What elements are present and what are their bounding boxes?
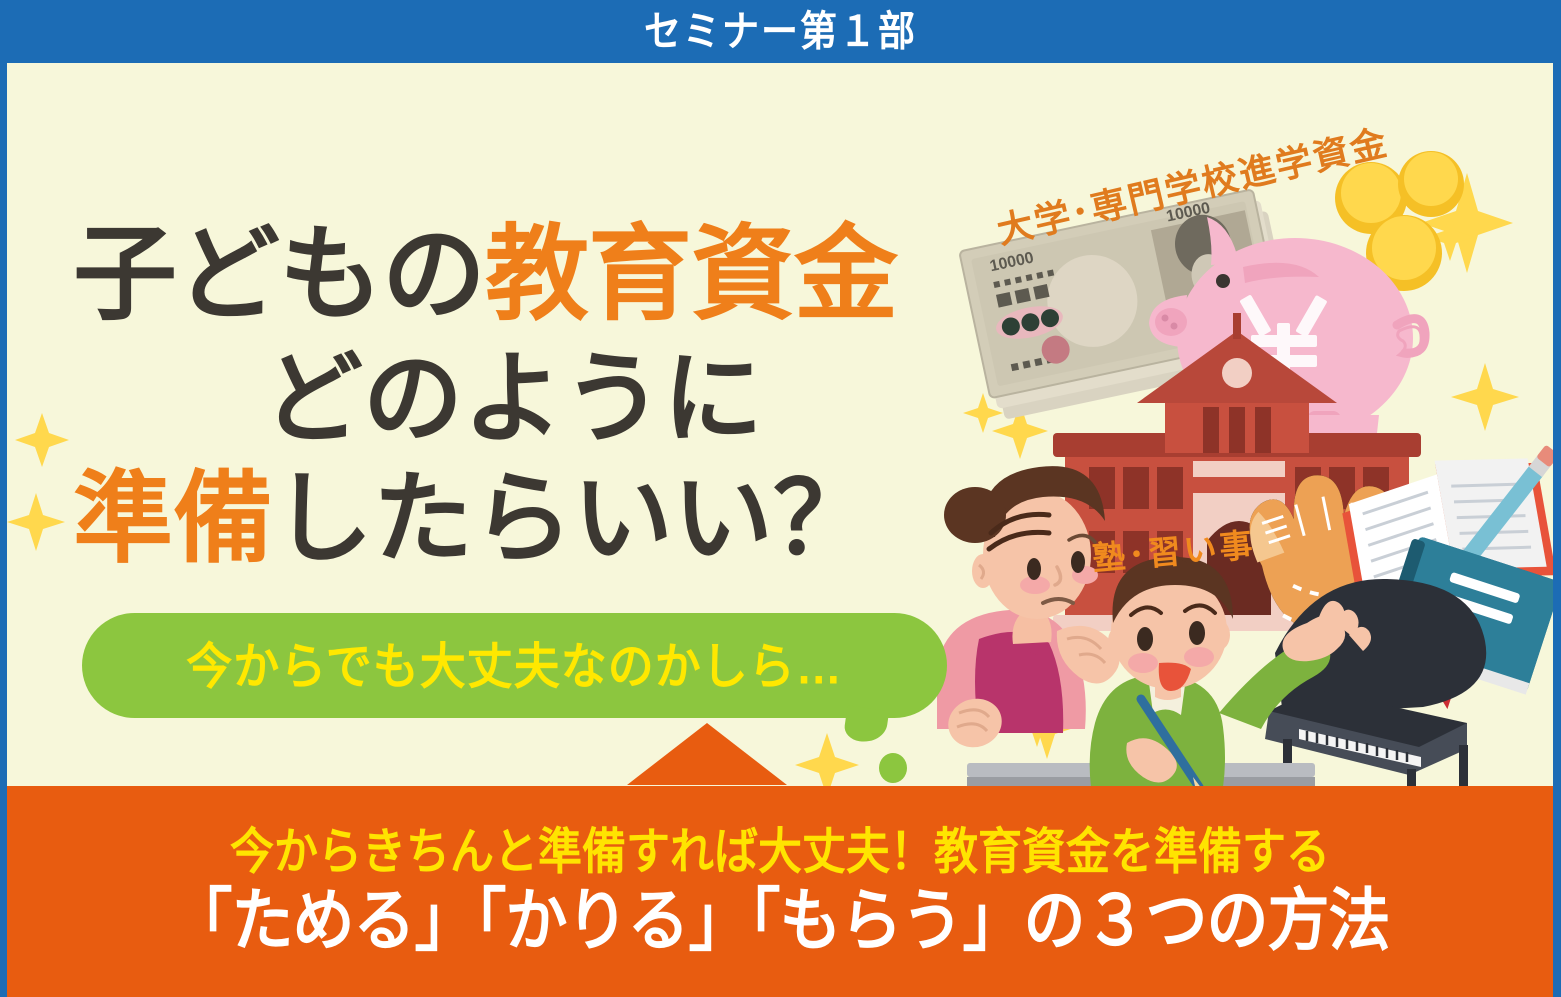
left-border [0, 63, 7, 997]
headline-line-3-plain: したらいい？ [273, 463, 873, 575]
headline-line-1-plain: 子どもの [73, 217, 485, 333]
right-border [1553, 63, 1561, 997]
speech-bubble: 今からでも大丈夫なのかしら… [82, 613, 947, 718]
headline-line-3-accent: 準備 [73, 463, 273, 575]
headline-line-1: 子どもの教育資金 [73, 223, 973, 327]
main-content-area: 10000 10000 [7, 63, 1553, 786]
banner-line-2: 「ためる」「かりる」「もらう」の３つの方法 [170, 887, 1389, 955]
banner-line-1: 今からきちんと準備すれば大丈夫！教育資金を準備する [230, 828, 1330, 877]
speech-bubble-text: 今からでも大丈夫なのかしら… [186, 641, 843, 691]
seminar-poster: セミナー第１部 [0, 0, 1561, 997]
speech-bubble-dot [879, 753, 907, 783]
headline-line-2: どのように [73, 349, 973, 449]
headline-line-1-accent: 教育資金 [485, 217, 897, 333]
bottom-banner: 今からきちんと準備すれば大丈夫！教育資金を準備する 「ためる」「かりる」「もらう… [7, 786, 1553, 997]
header-band: セミナー第１部 [0, 0, 1561, 63]
arrow-notch-icon [627, 723, 787, 785]
page-title: セミナー第１部 [644, 11, 917, 52]
headline-line-3: 準備したらいい？ [73, 469, 973, 569]
headline-block: 子どもの教育資金 どのように 準備したらいい？ [73, 223, 973, 569]
